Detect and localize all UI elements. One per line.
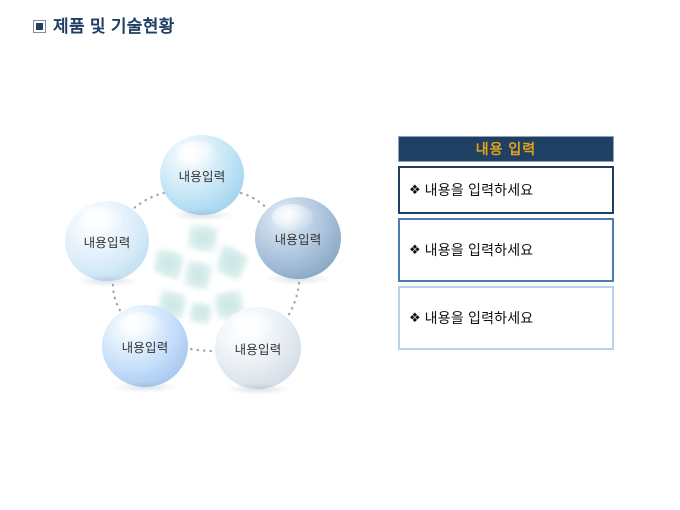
diagram-node-left[interactable]: 내용입력	[65, 201, 149, 281]
diagram-node-bottom-right[interactable]: 내용입력	[215, 307, 301, 389]
sphere-highlight-icon	[82, 207, 122, 233]
table-row[interactable]: ❖ 내용을 입력하세요	[398, 286, 614, 350]
square-bullet-icon	[33, 20, 46, 33]
diagram-node-label: 내용입력	[275, 229, 322, 248]
table-row-text: 내용을 입력하세요	[425, 240, 534, 260]
sphere-highlight-icon	[272, 204, 313, 230]
table-row[interactable]: ❖ 내용을 입력하세요	[398, 166, 614, 214]
diagram-node-label: 내용입력	[179, 166, 226, 185]
table-row-text: 내용을 입력하세요	[425, 180, 534, 200]
table-header-text: 내용 입력	[476, 139, 536, 159]
table-row[interactable]: ❖ 내용을 입력하세요	[398, 218, 614, 282]
table-row-text: 내용을 입력하세요	[425, 308, 534, 328]
diagram-node-label: 내용입력	[235, 339, 282, 358]
diamond-bullet-icon: ❖	[409, 242, 421, 258]
sphere-highlight-icon	[232, 314, 273, 340]
diagram-node-top[interactable]: 내용입력	[160, 135, 244, 215]
diamond-bullet-icon: ❖	[409, 182, 421, 198]
diagram-node-bottom-left[interactable]: 내용입력	[102, 305, 188, 387]
pentagon-cycle-diagram: 내용입력 내용입력 내용입력 내용입력 내용입력	[55, 135, 365, 410]
diagram-node-label: 내용입력	[122, 337, 169, 356]
sphere-highlight-icon	[177, 141, 217, 167]
sphere-highlight-icon	[119, 312, 160, 338]
table-header: 내용 입력	[398, 136, 614, 162]
diagram-node-right[interactable]: 내용입력	[255, 197, 341, 279]
page-title: 제품 및 기술현황	[33, 18, 175, 35]
content-table: 내용 입력 ❖ 내용을 입력하세요 ❖ 내용을 입력하세요 ❖ 내용을 입력하세…	[398, 136, 614, 350]
diagram-node-label: 내용입력	[84, 232, 131, 251]
page-title-text: 제품 및 기술현황	[53, 18, 175, 35]
diamond-bullet-icon: ❖	[409, 310, 421, 326]
